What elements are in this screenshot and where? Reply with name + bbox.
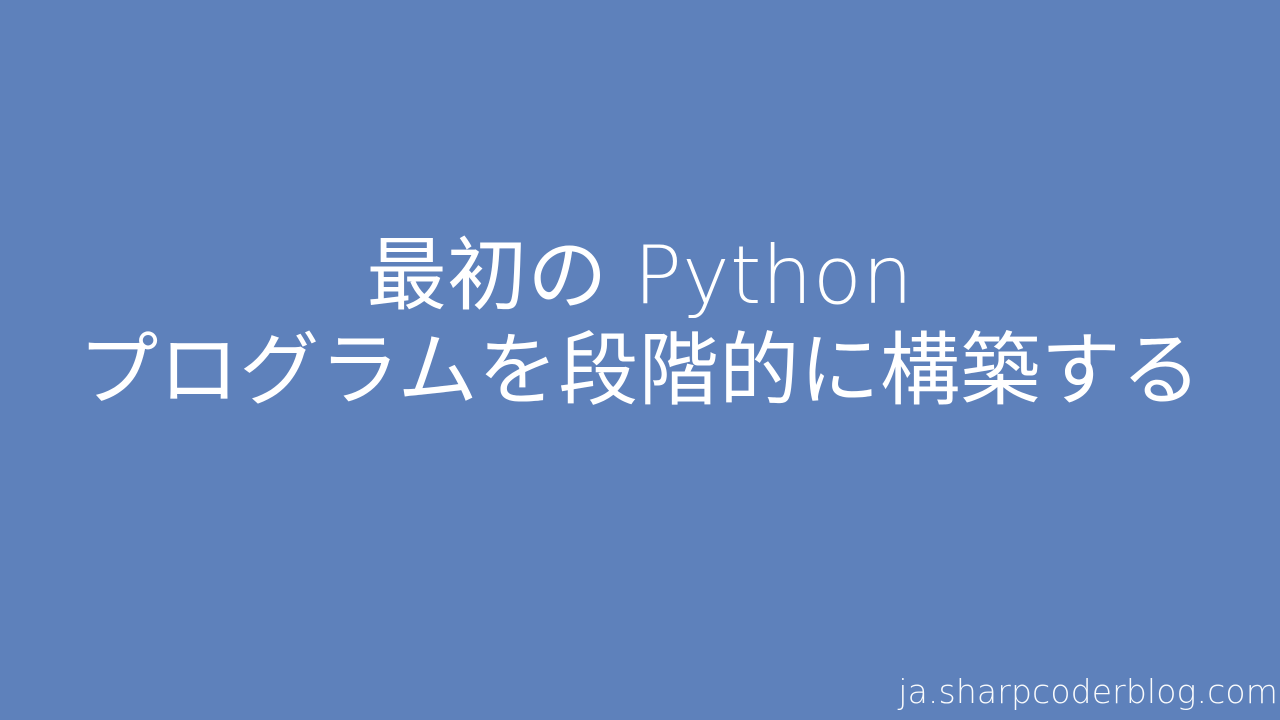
site-watermark: ja.sharpcoderblog.com [898,672,1278,712]
title-line-2: プログラムを段階的に構築する [78,323,1201,418]
title-block: 最初の Python プログラムを段階的に構築する [0,0,1280,720]
slide-canvas: 最初の Python プログラムを段階的に構築する ja.sharpcoderb… [0,0,1280,720]
title-line-1: 最初の Python [367,228,914,323]
